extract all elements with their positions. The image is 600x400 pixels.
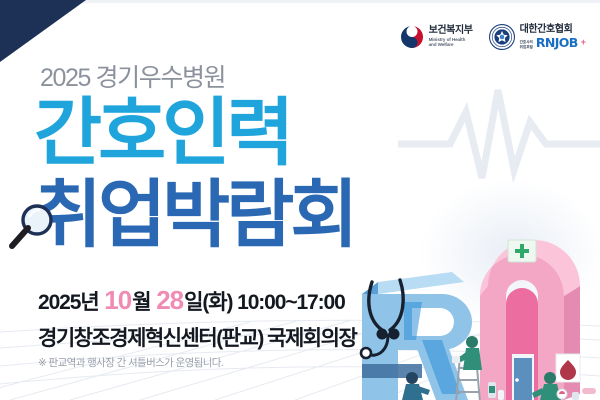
event-date-month-unit: 월 (132, 286, 150, 316)
logo-kna-rnjob: RNJOB (536, 37, 578, 50)
logo-kna-brand-row: 간호사의 취업포털 RNJOB + (520, 37, 586, 50)
logo-kna-plus: + (581, 38, 586, 47)
event-date-day-unit: 일(화) (184, 286, 232, 316)
navy-corner-triangle (0, 0, 86, 62)
poster-headline-line2: 취업박람회 (34, 178, 354, 252)
logo-mohw-name-ko: 보건복지부 (429, 26, 473, 37)
logo-kna-tagline: 간호사의 취업포털 (520, 40, 533, 49)
event-shuttle-note: ※ 판교역과 행사장 간 셔틀버스가 운영됩니다. (38, 355, 223, 370)
logo-mohw: 보건복지부 Ministry of Health and Welfare (400, 25, 473, 49)
top-hairline (0, 0, 600, 3)
magnifying-glass-icon (6, 198, 62, 254)
mohw-taegeuk-icon (400, 25, 424, 49)
blood-donation-poster-icon (556, 354, 580, 382)
event-date-time: 2025년 10 월 28 일(화) 10:00~17:00 (38, 285, 345, 316)
event-date-year: 2025년 (38, 286, 99, 316)
event-date-day-number: 28 (155, 285, 184, 316)
rn-letters-illustration (356, 236, 600, 400)
event-time: 10:00~17:00 (237, 291, 345, 315)
kna-emblem-icon (489, 24, 515, 50)
poster-eyebrow: 2025 경기우수병원 (40, 58, 225, 94)
logo-kna-text: 대한간호협회 간호사의 취업포털 RNJOB + (520, 25, 586, 49)
event-date-month-number: 10 (103, 285, 132, 316)
logo-mohw-name-en-2: and Welfare (429, 43, 473, 48)
heartbeat-ecg-icon (398, 86, 600, 182)
logo-kna-tagline-2: 취업포털 (520, 45, 533, 49)
poster-headline-line1: 간호인력 (34, 96, 290, 170)
poster-canvas: 보건복지부 Ministry of Health and Welfare 대한간… (0, 0, 600, 400)
logo-mohw-text: 보건복지부 Ministry of Health and Welfare (429, 26, 473, 48)
logo-kna-name-ko: 대한간호협회 (520, 25, 586, 36)
logo-kna: 대한간호협회 간호사의 취업포털 RNJOB + (489, 24, 586, 50)
logo-mohw-name-en: Ministry of Health and Welfare (429, 38, 473, 48)
medical-cross-sign-icon (508, 240, 536, 262)
event-venue: 경기창조경제혁신센터(판교) 국제회의장 (38, 322, 356, 352)
logo-kna-tagline-1: 간호사의 (520, 40, 533, 44)
sponsor-logo-bar: 보건복지부 Ministry of Health and Welfare 대한간… (400, 24, 586, 50)
